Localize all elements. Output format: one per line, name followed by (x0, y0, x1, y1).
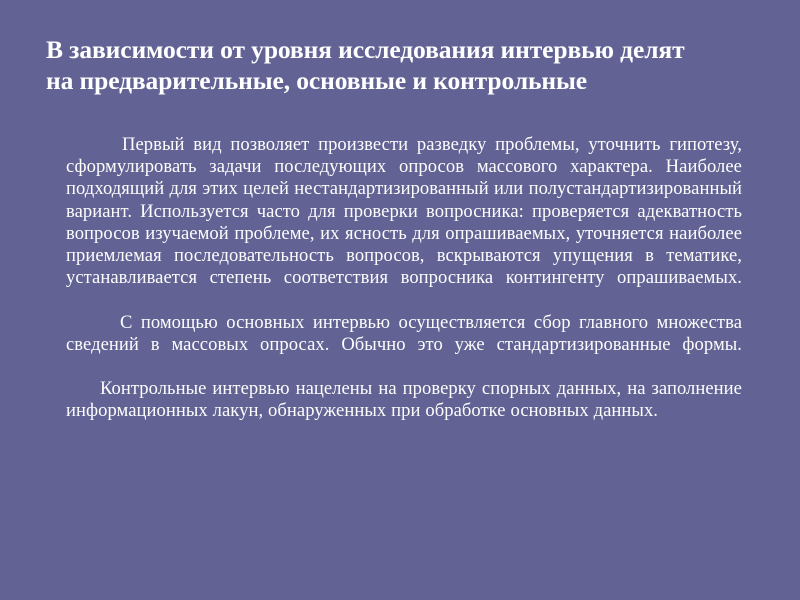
paragraph-preliminary: Первый вид позволяет произвести разведку… (66, 134, 742, 312)
slide-body-block: Первый вид позволяет произвести разведку… (66, 134, 742, 423)
slide-title-block: В зависимости от уровня исследования инт… (46, 34, 758, 96)
presentation-slide: В зависимости от уровня исследования инт… (0, 0, 800, 600)
paragraph-main: С помощью основных интервью осуществляет… (66, 312, 742, 379)
page-title: В зависимости от уровня исследования инт… (46, 34, 758, 96)
paragraph-control: Контрольные интервью нацелены на проверк… (66, 378, 742, 422)
